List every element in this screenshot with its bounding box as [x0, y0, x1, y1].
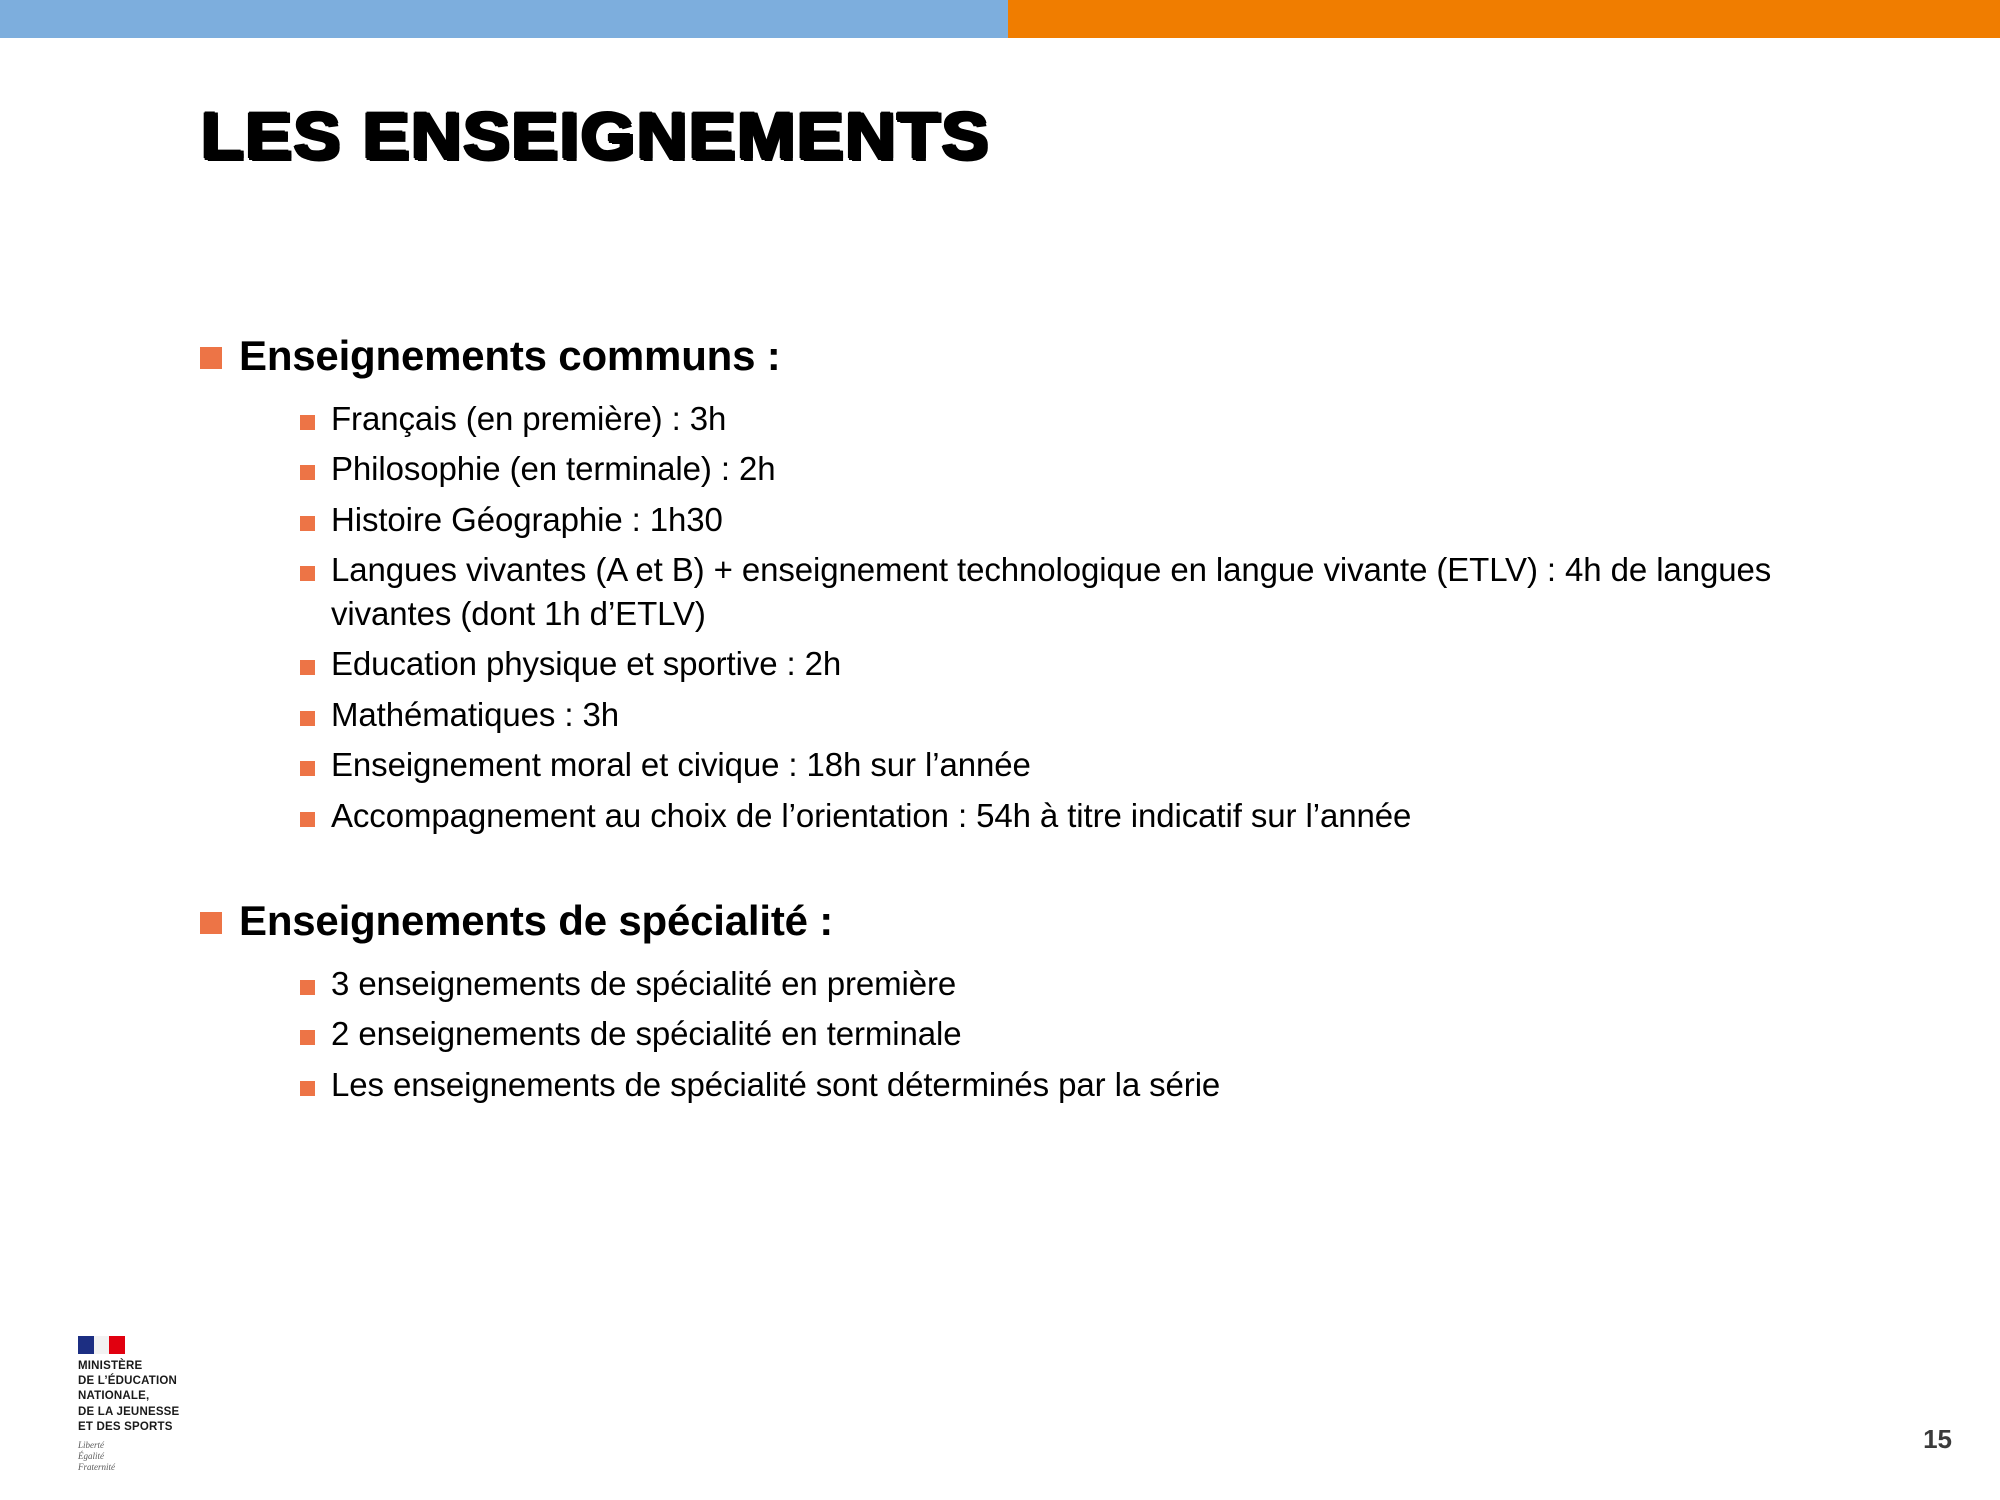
square-bullet-icon: [300, 1081, 315, 1096]
header-bar-right: [1008, 0, 2000, 38]
section-heading-label: Enseignements de spécialité :: [239, 895, 833, 948]
list-item-label: Accompagnement au choix de l’orientation…: [331, 794, 1411, 838]
flag-band-blue: [78, 1336, 94, 1354]
flag-band-white: [94, 1336, 110, 1354]
square-bullet-icon: [300, 1030, 315, 1045]
list-item-label: Français (en première) : 3h: [331, 397, 726, 441]
list-item: 3 enseignements de spécialité en premièr…: [0, 962, 2000, 1006]
section-heading-label: Enseignements communs :: [239, 330, 781, 383]
list-item: Français (en première) : 3h: [0, 397, 2000, 441]
section-heading-2: Enseignements de spécialité :: [0, 895, 2000, 948]
list-item: 2 enseignements de spécialité en termina…: [0, 1012, 2000, 1056]
square-bullet-icon: [200, 347, 222, 369]
list-item-label: Mathématiques : 3h: [331, 693, 619, 737]
square-bullet-icon: [300, 711, 315, 726]
ministry-name-line: MINISTÈRE: [78, 1359, 228, 1374]
list-item: Philosophie (en terminale) : 2h: [0, 447, 2000, 491]
ministry-logo: MINISTÈRE DE L’ÉDUCATION NATIONALE, DE L…: [78, 1336, 228, 1474]
section-enseignements-de-specialite: Enseignements de spécialité : 3 enseigne…: [0, 895, 2000, 1106]
square-bullet-icon: [300, 761, 315, 776]
motto-line: Liberté: [78, 1440, 228, 1451]
header-bar-left: [0, 0, 1008, 38]
list-item: Enseignement moral et civique : 18h sur …: [0, 743, 2000, 787]
square-bullet-icon: [300, 465, 315, 480]
republic-motto: Liberté Égalité Fraternité: [78, 1440, 228, 1474]
french-flag-icon: [78, 1336, 125, 1354]
square-bullet-icon: [300, 516, 315, 531]
ministry-name-line: NATIONALE,: [78, 1389, 228, 1404]
list-item-label: Philosophie (en terminale) : 2h: [331, 447, 775, 491]
section-heading-1: Enseignements communs :: [0, 330, 2000, 383]
motto-line: Égalité: [78, 1451, 228, 1462]
motto-line: Fraternité: [78, 1462, 228, 1473]
list-item-label: Education physique et sportive : 2h: [331, 642, 841, 686]
ministry-name-line: DE LA JEUNESSE: [78, 1405, 228, 1420]
list-item-label: Enseignement moral et civique : 18h sur …: [331, 743, 1031, 787]
square-bullet-icon: [300, 566, 315, 581]
list-item: Accompagnement au choix de l’orientation…: [0, 794, 2000, 838]
list-item: Langues vivantes (A et B) + enseignement…: [0, 548, 2000, 635]
section-enseignements-communs: Enseignements communs : Français (en pre…: [0, 330, 2000, 837]
square-bullet-icon: [300, 812, 315, 827]
list-item-label: Histoire Géographie : 1h30: [331, 498, 723, 542]
list-item-label: 2 enseignements de spécialité en termina…: [331, 1012, 962, 1056]
square-bullet-icon: [200, 912, 222, 934]
list-item: Histoire Géographie : 1h30: [0, 498, 2000, 542]
page-number: 15: [1923, 1424, 1952, 1455]
list-item: Les enseignements de spécialité sont dét…: [0, 1063, 2000, 1107]
page-title: LES ENSEIGNEMENTS: [200, 97, 989, 173]
square-bullet-icon: [300, 415, 315, 430]
ministry-name-line: DE L’ÉDUCATION: [78, 1374, 228, 1389]
flag-band-red: [109, 1336, 125, 1354]
list-item-label: Les enseignements de spécialité sont dét…: [331, 1063, 1220, 1107]
ministry-name-line: ET DES SPORTS: [78, 1420, 228, 1435]
ministry-name: MINISTÈRE DE L’ÉDUCATION NATIONALE, DE L…: [78, 1359, 228, 1435]
square-bullet-icon: [300, 980, 315, 995]
list-item-label: Langues vivantes (A et B) + enseignement…: [331, 548, 1821, 635]
list-item: Education physique et sportive : 2h: [0, 642, 2000, 686]
square-bullet-icon: [300, 660, 315, 675]
list-item-label: 3 enseignements de spécialité en premièr…: [331, 962, 956, 1006]
slide-content: Enseignements communs : Français (en pre…: [0, 330, 2000, 1114]
list-item: Mathématiques : 3h: [0, 693, 2000, 737]
